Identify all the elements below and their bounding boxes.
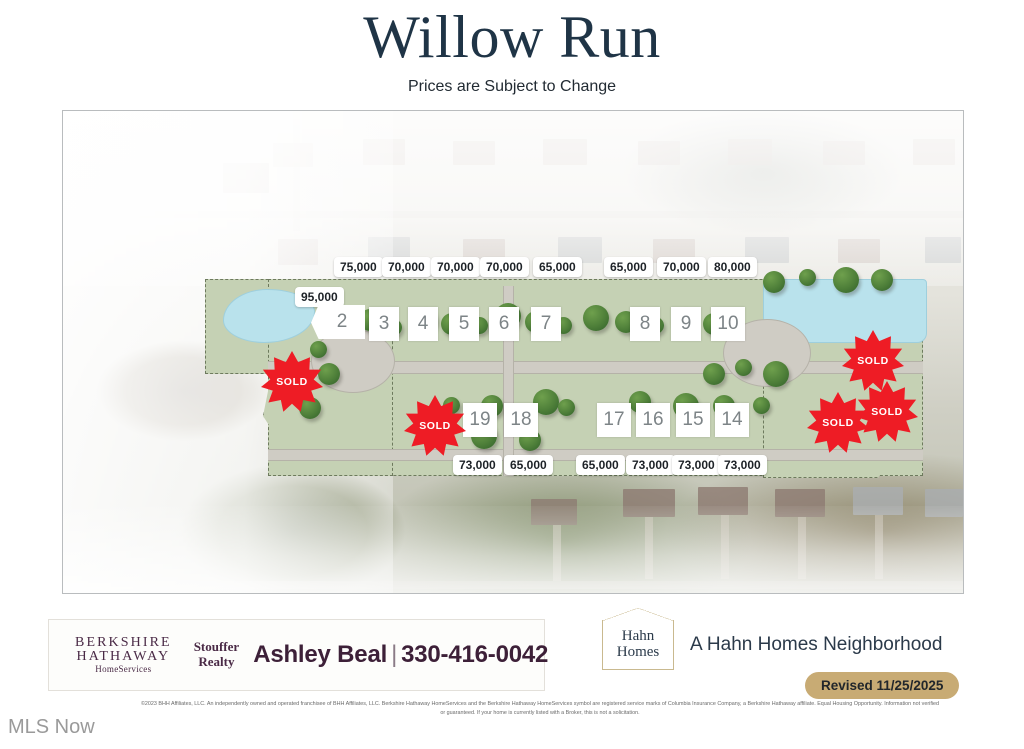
lot-box[interactable]: 17 <box>597 403 631 437</box>
agent-separator: | <box>387 641 401 668</box>
site-plan-map[interactable]: 95,000 75,000 70,000 70,000 70,000 65,00… <box>62 110 964 594</box>
lot-price: 73,000 <box>672 455 721 475</box>
stouffer-line-1: Stouffer <box>194 640 240 655</box>
tree-icon <box>703 363 725 385</box>
photo-fade-bottom <box>63 506 963 594</box>
agent-name: Ashley Beal <box>253 641 387 668</box>
lot-box[interactable]: 10 <box>711 307 745 341</box>
lot-price: 65,000 <box>604 257 653 277</box>
tree-icon <box>753 397 770 414</box>
tree-icon <box>583 305 609 331</box>
tree-icon <box>318 363 340 385</box>
page-title: Willow Run <box>0 2 1024 72</box>
lot-price: 65,000 <box>576 455 625 475</box>
tree-icon <box>763 361 789 387</box>
lot-box[interactable]: 14 <box>715 403 749 437</box>
lot-box[interactable]: 6 <box>489 307 519 341</box>
lot-box[interactable]: 5 <box>449 307 479 341</box>
tree-icon <box>558 399 575 416</box>
lot-price: 73,000 <box>626 455 675 475</box>
lot-price: 80,000 <box>708 257 757 277</box>
house-roof-icon <box>602 608 674 621</box>
lot-price: 70,000 <box>657 257 706 277</box>
lot-box[interactable]: 2 <box>311 305 365 339</box>
lot-price: 70,000 <box>382 257 431 277</box>
berkshire-hathaway-logo: BERKSHIRE HATHAWAY HomeServices <box>75 636 172 675</box>
lot-price: 65,000 <box>504 455 553 475</box>
brokerage-footer-card: BERKSHIRE HATHAWAY HomeServices Stouffer… <box>48 619 545 691</box>
tree-icon <box>735 359 752 376</box>
stouffer-realty-logo: Stouffer Realty <box>194 640 240 669</box>
tree-icon <box>871 269 893 291</box>
lot-box[interactable]: 8 <box>630 307 660 341</box>
agent-phone[interactable]: 330-416-0042 <box>401 641 548 668</box>
lot-price: 75,000 <box>334 257 383 277</box>
lot-price: 70,000 <box>431 257 480 277</box>
revised-date-badge: Revised 11/25/2025 <box>805 672 959 699</box>
legal-disclaimer: ©2023 BHH Affiliates, LLC. An independen… <box>140 700 940 718</box>
lot-price: 73,000 <box>453 455 502 475</box>
lot-price: 65,000 <box>533 257 582 277</box>
tree-icon <box>763 271 785 293</box>
bhh-line-2: HATHAWAY <box>75 650 172 664</box>
stouffer-line-2: Realty <box>194 655 240 670</box>
lot-box[interactable]: 18 <box>504 403 538 437</box>
agent-contact: Ashley Beal|330-416-0042 <box>253 641 548 669</box>
tree-icon <box>833 267 859 293</box>
builder-footer: Hahn Homes A Hahn Homes Neighborhood <box>602 620 942 670</box>
lot-price: 70,000 <box>480 257 529 277</box>
builder-tagline: A Hahn Homes Neighborhood <box>690 634 942 656</box>
lot-price: 95,000 <box>295 287 344 307</box>
hahn-homes-logo: Hahn Homes <box>602 620 674 670</box>
lot-box[interactable]: 9 <box>671 307 701 341</box>
tree-icon <box>799 269 816 286</box>
lot-price: 73,000 <box>718 455 767 475</box>
page-subtitle: Prices are Subject to Change <box>0 78 1024 96</box>
lot-box[interactable]: 3 <box>369 307 399 341</box>
lot-box[interactable]: 4 <box>408 307 438 341</box>
hahn-line-2: Homes <box>617 645 660 661</box>
mls-watermark: MLS Now <box>8 716 95 739</box>
bhh-line-1: BERKSHIRE <box>75 636 172 650</box>
tree-icon <box>310 341 327 358</box>
lot-box[interactable]: 15 <box>676 403 710 437</box>
lot-box[interactable]: 7 <box>531 307 561 341</box>
lot-box[interactable]: 16 <box>636 403 670 437</box>
hahn-line-1: Hahn <box>622 629 655 645</box>
bhh-line-3: HomeServices <box>75 665 172 674</box>
lot-box[interactable]: 19 <box>463 403 497 437</box>
